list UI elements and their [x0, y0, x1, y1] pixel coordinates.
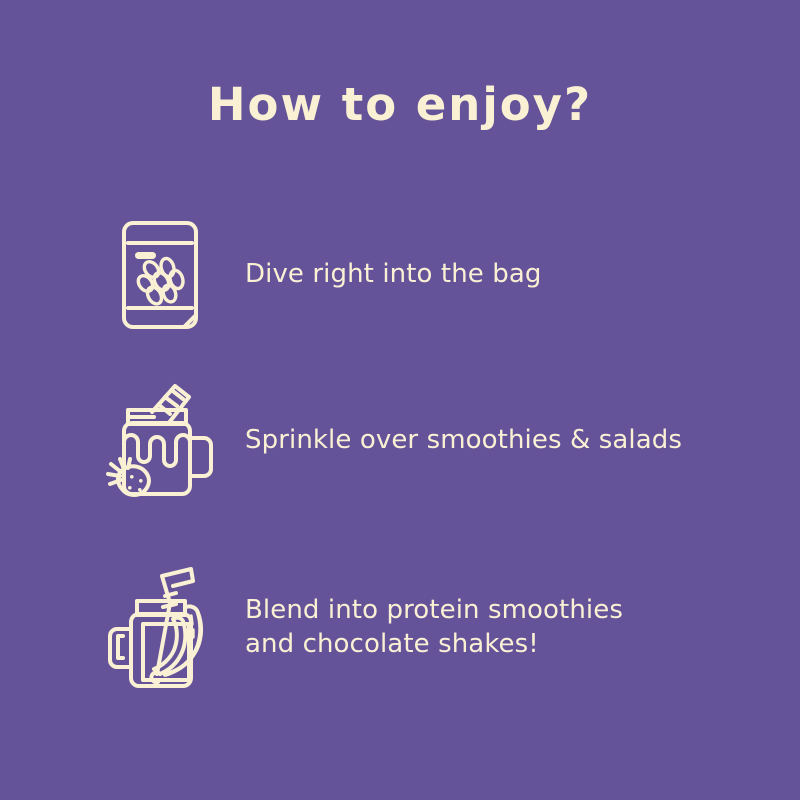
step-text-2: Sprinkle over smoothies & salads — [225, 424, 755, 458]
step-row-1: Dive right into the bag — [95, 215, 755, 335]
step-text-3: Blend into protein smoothies and chocola… — [225, 594, 755, 662]
shake-mug-banana-icon — [95, 560, 225, 695]
how-to-enjoy-poster: How to enjoy? — [0, 0, 800, 800]
step-row-2: Sprinkle over smoothies & salads — [95, 378, 755, 503]
smoothie-jar-strawberry-icon — [95, 378, 225, 503]
step-label-3a: Blend into protein smoothies — [245, 595, 623, 625]
page-title: How to enjoy? — [0, 78, 800, 131]
step-label-3b: and chocolate shakes! — [245, 628, 755, 662]
seed-bag-icon — [95, 215, 225, 335]
step-row-3: Blend into protein smoothies and chocola… — [95, 560, 755, 695]
step-label-1: Dive right into the bag — [245, 259, 542, 289]
step-text-1: Dive right into the bag — [225, 258, 755, 292]
step-label-2: Sprinkle over smoothies & salads — [245, 425, 682, 455]
